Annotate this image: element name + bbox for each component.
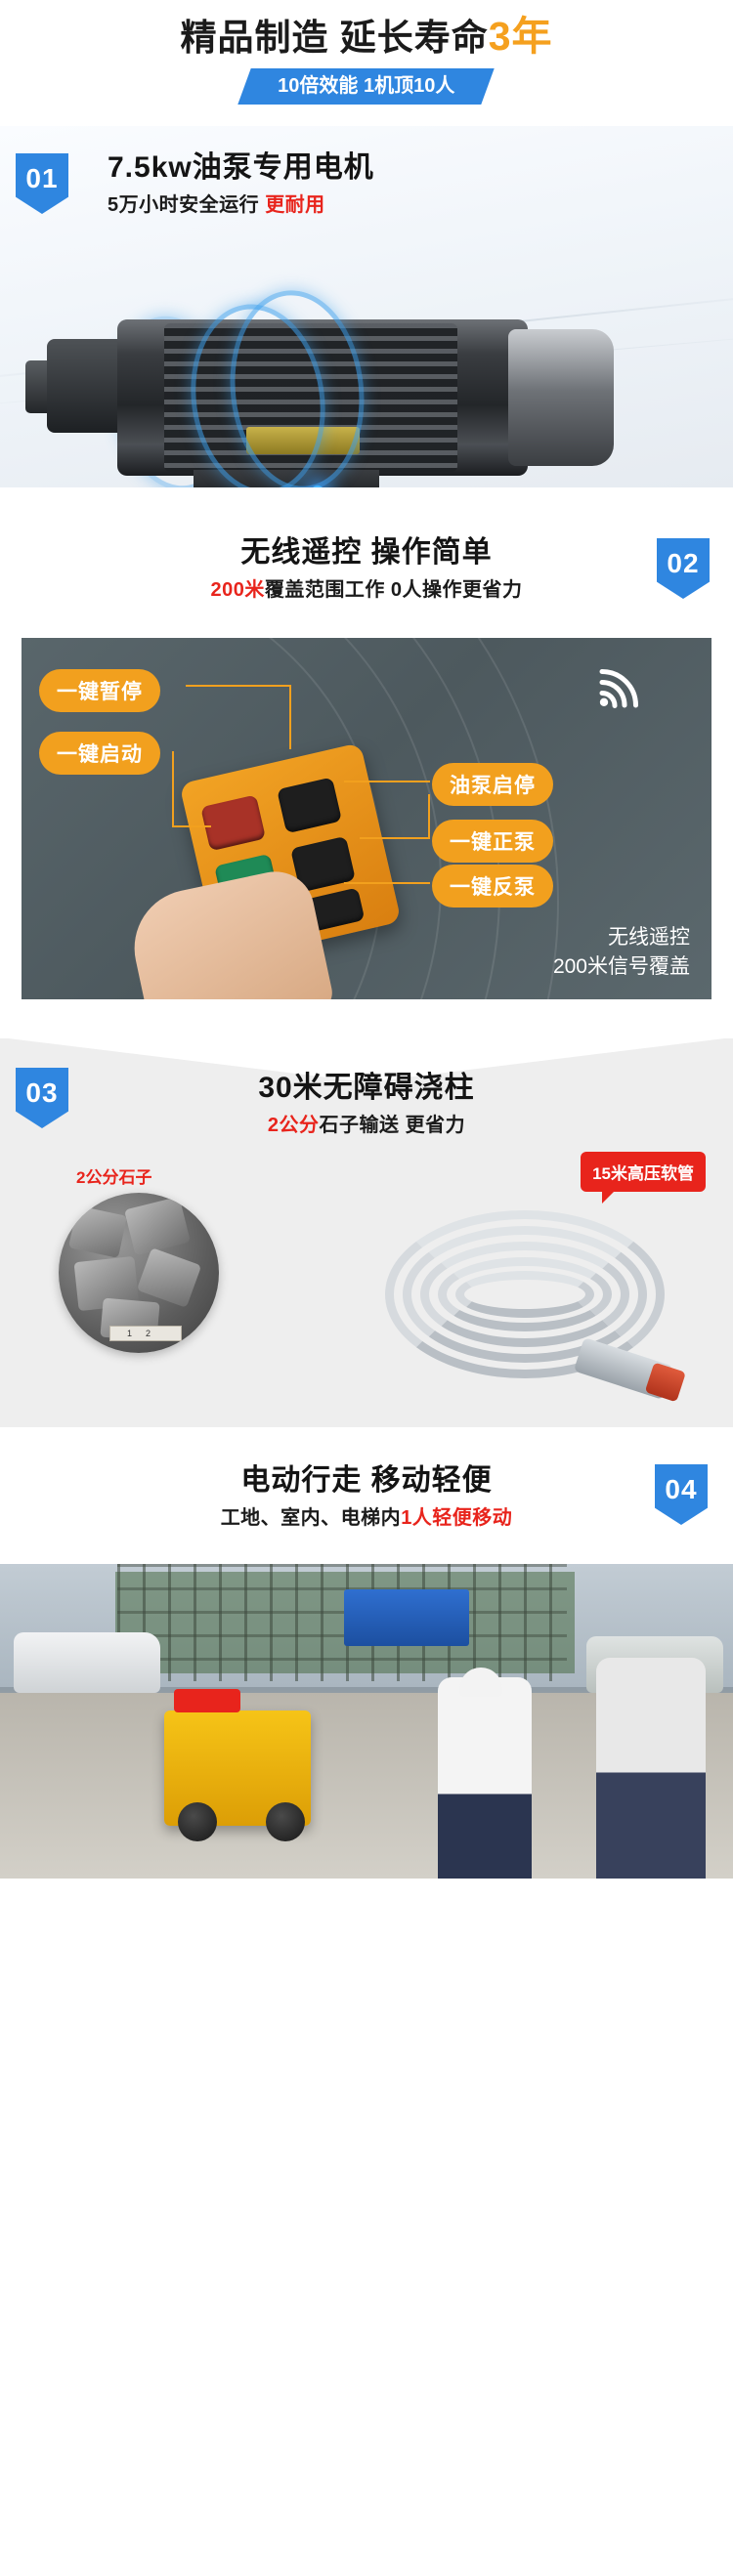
section-04-subtitle: 工地、室内、电梯内1人轻便移动 [0, 1503, 733, 1533]
section-01: 01 7.5kw油泵专用电机 5万小时安全运行 更耐用 [0, 126, 733, 487]
section-02: 无线遥控 操作简单 200米覆盖范围工作 0人操作更省力 02 [0, 534, 733, 999]
scaffolding [117, 1564, 567, 1681]
worker-right [596, 1658, 706, 1879]
section-03-text: 30米无障碍浇柱 2公分石子输送 更省力 [0, 1070, 733, 1140]
section-03-subtitle: 2公分石子输送 更省力 [0, 1111, 733, 1140]
motor-fan-cover [508, 329, 614, 466]
section-03: 03 30米无障碍浇柱 2公分石子输送 更省力 2公分石子 12 15米高压软管 [0, 1038, 733, 1427]
corner-note-line-1: 无线遥控 [553, 923, 690, 952]
section-04-title: 电动行走 移动轻便 [0, 1462, 733, 1499]
machine-wheel-right [266, 1802, 305, 1841]
leader-line-start [172, 751, 211, 827]
headline-banner-row: 10倍效能 1机顶10人 [0, 68, 733, 105]
high-pressure-hose-coil [375, 1206, 678, 1392]
stone-ruler: 12 [109, 1326, 182, 1341]
section-number-badge: 04 [655, 1464, 708, 1525]
section-02-header: 无线遥控 操作简单 200米覆盖范围工作 0人操作更省力 02 [0, 534, 733, 628]
worksite-photo [0, 1564, 733, 1879]
section-02-subtitle: 200米覆盖范围工作 0人操作更省力 [0, 575, 733, 605]
label-one-key-forward-pump: 一键正泵 [432, 820, 553, 863]
section-number-badge: 02 [657, 538, 710, 599]
leader-line-pumpstartstop [344, 781, 430, 782]
hose-length-badge: 15米高压软管 [581, 1152, 706, 1192]
label-one-key-pause: 一键暂停 [39, 669, 160, 712]
section-02-title: 无线遥控 操作简单 [0, 534, 733, 571]
leader-line-forward [360, 794, 430, 839]
section-01-subtitle-plain: 5万小时安全运行 [108, 194, 265, 216]
page-title-highlight: 3年 [489, 14, 553, 59]
headline-banner-label: 10倍效能 1机顶10人 [279, 75, 455, 97]
section-02-subtitle-red: 200米 [210, 579, 264, 601]
section-03-subtitle-red: 2公分 [268, 1115, 320, 1136]
page-title-main: 精品制造 延长寿命 [180, 18, 488, 58]
site-signboard [344, 1589, 469, 1646]
section-03-badge-wrap: 03 [16, 1068, 68, 1128]
leader-line-reverse [344, 882, 430, 884]
stone-size-label: 2公分石子 [76, 1163, 151, 1188]
remote-pump-button [277, 777, 342, 833]
wifi-signal-icon [598, 663, 655, 712]
section-02-badge-wrap: 02 [657, 538, 710, 599]
section-01-text: 7.5kw油泵专用电机 5万小时安全运行 更耐用 [108, 149, 374, 220]
section-03-header: 03 30米无障碍浇柱 2公分石子输送 更省力 [0, 1038, 733, 1146]
hose-and-stone-photo: 2公分石子 12 15米高压软管 [22, 1146, 711, 1410]
label-one-key-start: 一键启动 [39, 732, 160, 775]
remote-corner-note: 无线遥控 200米信号覆盖 [553, 923, 690, 982]
section-04-subtitle-plain: 工地、室内、电梯内 [221, 1507, 402, 1529]
worker-in-white [438, 1677, 532, 1879]
section-03-title: 30米无障碍浇柱 [0, 1070, 733, 1107]
remote-control-photo: 一键暂停 一键启动 油泵启停 一键正泵 一键反泵 无线遥控 200米信号覆盖 [22, 638, 711, 999]
label-pump-start-stop: 油泵启停 [432, 763, 553, 806]
section-03-subtitle-plain: 石子输送 更省力 [320, 1115, 466, 1136]
section-01-title: 7.5kw油泵专用电机 [108, 149, 374, 187]
section-04-header: 电动行走 移动轻便 工地、室内、电梯内1人轻便移动 04 [0, 1462, 733, 1564]
machine-wheel-left [178, 1802, 217, 1841]
section-02-subtitle-plain: 覆盖范围工作 0人操作更省力 [265, 579, 523, 601]
headline-banner: 10倍效能 1机顶10人 [238, 68, 496, 105]
section-04-text: 电动行走 移动轻便 工地、室内、电梯内1人轻便移动 [0, 1462, 733, 1533]
label-one-key-reverse-pump: 一键反泵 [432, 865, 553, 908]
white-van [14, 1632, 160, 1693]
section-01-badge-wrap: 01 [16, 153, 68, 214]
stone-sample-image: 12 [59, 1193, 219, 1353]
corner-note-line-2: 200米信号覆盖 [553, 952, 690, 982]
section-number-badge: 03 [16, 1068, 68, 1128]
section-04-badge-wrap: 04 [655, 1464, 708, 1525]
leader-line-pause [186, 685, 291, 749]
section-01-subtitle-red: 更耐用 [265, 194, 325, 216]
section-04: 电动行走 移动轻便 工地、室内、电梯内1人轻便移动 04 [0, 1462, 733, 1879]
page-header: 精品制造 延长寿命3年 10倍效能 1机顶10人 [0, 0, 733, 105]
page-title: 精品制造 延长寿命3年 [0, 14, 733, 61]
section-04-subtitle-red: 1人轻便移动 [401, 1507, 512, 1529]
motor-photo [0, 214, 733, 487]
section-02-text: 无线遥控 操作简单 200米覆盖范围工作 0人操作更省力 [0, 534, 733, 605]
section-number-badge: 01 [16, 153, 68, 214]
